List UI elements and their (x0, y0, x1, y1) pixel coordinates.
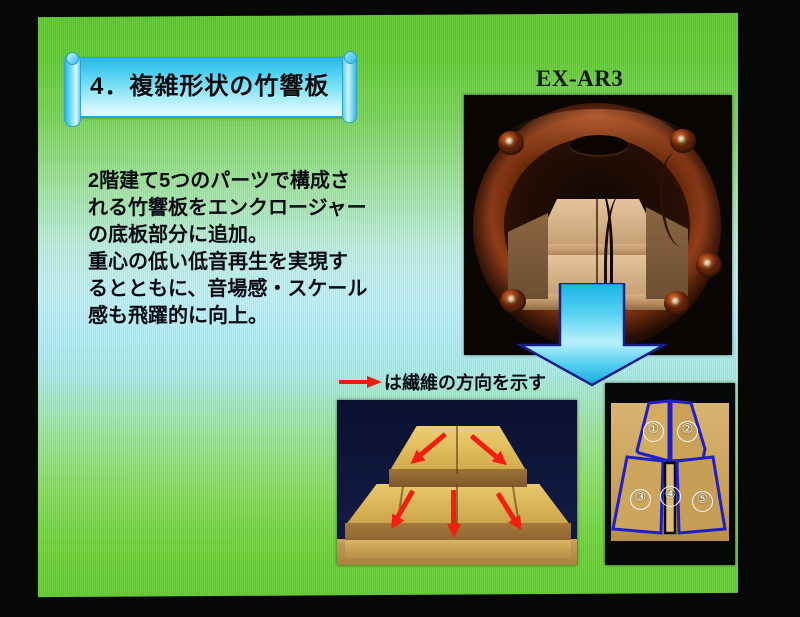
plate-seam (456, 484, 458, 528)
lower-tier-edge-2 (345, 540, 571, 558)
mount-boss (498, 131, 524, 155)
banner-scroll-curl-left-icon (66, 52, 79, 65)
title-banner: 4．複雑形状の竹響板 (64, 57, 354, 115)
large-cyan-down-arrow-icon (512, 283, 672, 387)
piece-outlines (605, 383, 735, 565)
body-paragraph: 2階建て5つのパーツで構成さ れる竹響板をエンクロージャー の底板部分に追加。 … (88, 168, 388, 330)
body-line: れる竹響板をエンクロージャー (88, 195, 388, 222)
piece-number: ② (677, 421, 698, 442)
body-line: 感も飛躍的に向上。 (88, 303, 388, 330)
piece-number: ④ (660, 486, 681, 507)
body-line: るとともに、音場感・スケール (88, 276, 388, 303)
red-right-arrow-icon (339, 376, 383, 388)
banner-scroll-curl-right-icon (344, 51, 357, 64)
upper-tier-edge (389, 469, 527, 487)
enclosure-port-slot (570, 135, 628, 155)
stacked-bamboo-plates-photo (337, 400, 577, 565)
plate-seam (456, 426, 458, 474)
mount-boss (696, 253, 722, 277)
piece-number: ① (643, 421, 664, 442)
mount-boss (670, 129, 696, 153)
body-line: の底板部分に追加。 (88, 222, 388, 249)
screenshot-root: 4．複雑形状の竹響板 2階建て5つのパーツで構成さ れる竹響板をエンクロージャー… (0, 0, 800, 617)
body-line: 重心の低い低音再生を実現す (88, 249, 388, 276)
piece-number: ③ (630, 489, 651, 510)
slide-content-layer: 4．複雑形状の竹響板 2階建て5つのパーツで構成さ れる竹響板をエンクロージャー… (0, 0, 800, 617)
page-title: 4．複雑形状の竹響板 (90, 66, 336, 101)
piece-number: ⑤ (692, 491, 713, 512)
product-caption: EX-AR3 (536, 66, 623, 92)
five-numbered-pieces-photo: ① ② ③ ④ ⑤ (605, 383, 735, 565)
body-line: 2階建て5つのパーツで構成さ (88, 168, 388, 195)
lower-tier-top (345, 484, 571, 526)
